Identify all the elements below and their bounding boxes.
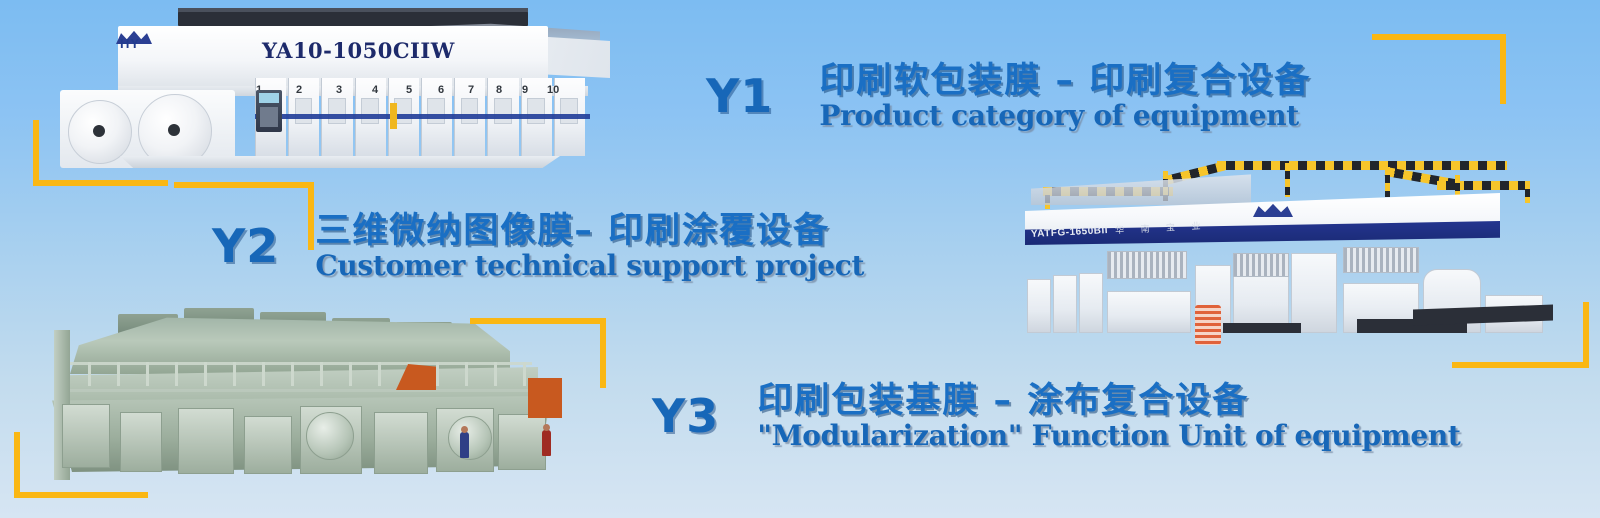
orange-cover bbox=[528, 378, 562, 418]
print-unit-number: 3 bbox=[336, 84, 342, 96]
feature-title-cn-y3: 印刷包装基膜 – 涂布复合设备 bbox=[757, 382, 1460, 421]
coating-production-line-image bbox=[28, 308, 573, 486]
promo-banner: HY YA10-1050CIIW 1 2 3 4 5 6 7 8 9 10 bbox=[0, 0, 1600, 518]
print-unit-number: 2 bbox=[296, 84, 302, 96]
operator-figure bbox=[460, 432, 469, 458]
operator-figure bbox=[542, 430, 551, 456]
operator-console bbox=[256, 90, 282, 132]
feature-title-cn-y1: 印刷软包装膜 – 印刷复合设备 bbox=[819, 62, 1311, 101]
print-unit-number: 10 bbox=[547, 84, 559, 96]
feature-row-y1: Y1 印刷软包装膜 – 印刷复合设备 Product category of e… bbox=[706, 62, 1311, 130]
feature-row-y3: Y3 印刷包装基膜 – 涂布复合设备 "Modularization" Func… bbox=[652, 382, 1461, 450]
feature-code-y3: Y3 bbox=[652, 389, 719, 443]
print-unit-number: 5 bbox=[406, 84, 412, 96]
print-unit-number: 6 bbox=[438, 84, 444, 96]
feature-code-y2: Y2 bbox=[212, 219, 279, 273]
film-reel bbox=[306, 412, 354, 460]
print-unit-number: 8 bbox=[496, 84, 502, 96]
feature-title-en-y2: Customer technical support project bbox=[315, 251, 864, 280]
gravure-printing-press-image: HY YA10-1050CIIW 1 2 3 4 5 6 7 8 9 10 bbox=[60, 8, 600, 183]
feature-code-y1: Y1 bbox=[706, 69, 773, 123]
dry-lamination-machine-image: YATFG-1650BII 华 南 宝 业 bbox=[985, 155, 1530, 365]
feature-row-y2: Y2 三维微纳图像膜– 印刷涂覆设备 Customer technical su… bbox=[212, 212, 864, 280]
hose-coil bbox=[1195, 305, 1221, 345]
feature-title-en-y3: "Modularization" Function Unit of equipm… bbox=[757, 421, 1460, 450]
laminator-units-group bbox=[1027, 241, 1457, 333]
machine-brand-label: HY bbox=[120, 36, 140, 51]
print-unit-number: 4 bbox=[372, 84, 378, 96]
print-unit-number: 9 bbox=[522, 84, 528, 96]
film-reel bbox=[448, 416, 492, 460]
machine-model-label: YA10-1050CIIW bbox=[262, 38, 455, 63]
print-unit-number: 7 bbox=[468, 84, 474, 96]
feature-title-en-y1: Product category of equipment bbox=[819, 101, 1311, 130]
feature-title-cn-y2: 三维微纳图像膜– 印刷涂覆设备 bbox=[315, 212, 864, 251]
